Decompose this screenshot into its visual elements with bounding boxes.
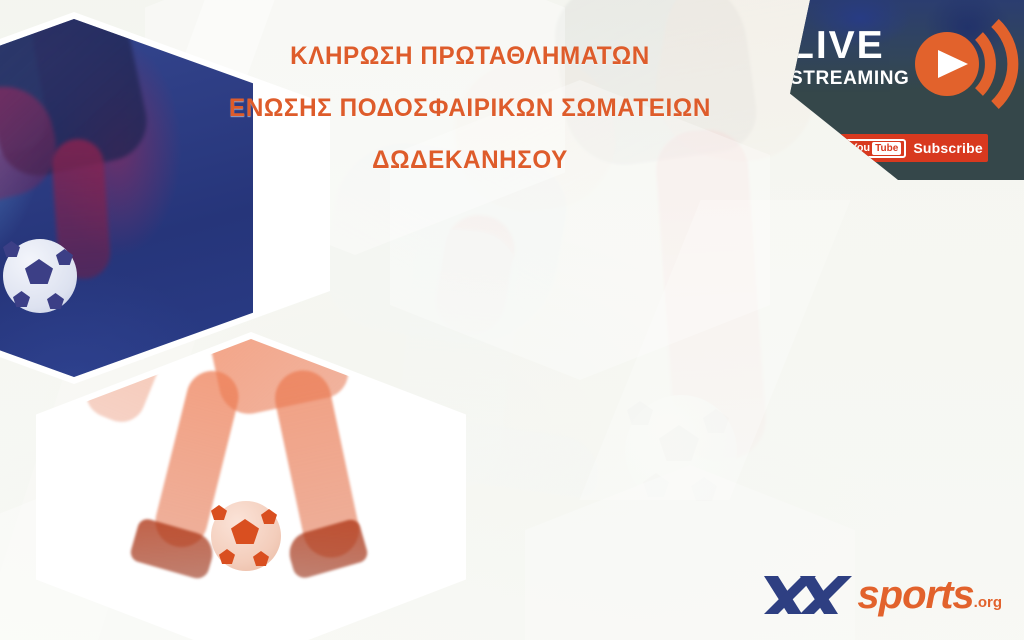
ball-panel bbox=[261, 509, 277, 524]
streaming-label: STREAMING bbox=[790, 67, 909, 91]
brand-word: sports bbox=[857, 575, 973, 615]
blue-photo-soccer-ball-icon bbox=[3, 239, 77, 313]
orange-photo-soccer-ball-icon bbox=[211, 501, 281, 571]
live-streaming-text: LIVE STREAMING bbox=[790, 28, 909, 91]
live-label: LIVE bbox=[790, 28, 909, 64]
youtube-tube-label: Tube bbox=[872, 142, 901, 155]
ball-panel bbox=[3, 241, 20, 257]
ball-panel bbox=[25, 259, 53, 284]
hexagon-photo-orange bbox=[36, 332, 466, 640]
orange-duotone-photo bbox=[93, 339, 409, 640]
orange-photo-boot-right bbox=[284, 517, 369, 580]
ball-panel bbox=[47, 293, 64, 309]
ball-panel bbox=[253, 551, 269, 566]
orange-photo-background-leg bbox=[79, 339, 187, 429]
ball-panel bbox=[219, 549, 235, 564]
hexagon-orange-image bbox=[43, 339, 459, 640]
play-broadcast-icon[interactable] bbox=[910, 16, 1020, 112]
headline-line-2: ΕΝΩΣΗΣ ΠΟΔΟΣΦΑΙΡΙΚΩΝ ΣΩΜΑΤΕΙΩΝ bbox=[189, 82, 752, 134]
poster-canvas: ΚΛΗΡΩΣΗ ΠΡΩΤΑΘΛΗΜΑΤΩΝ ΕΝΩΣΗΣ ΠΟΔΟΣΦΑΙΡΙΚ… bbox=[0, 0, 1024, 640]
subscribe-label: Subscribe bbox=[913, 140, 983, 156]
brand-logo[interactable]: sports .org bbox=[762, 572, 1002, 618]
ball-panel bbox=[211, 505, 227, 520]
ball-panel bbox=[13, 291, 30, 307]
headline-line-1: ΚΛΗΡΩΣΗ ΠΡΩΤΑΘΛΗΜΑΤΩΝ bbox=[189, 30, 752, 82]
ball-panel bbox=[231, 519, 259, 544]
xx-mark-icon bbox=[762, 572, 854, 618]
headline-line-3: ΔΩΔΕΚΑΝΗΣΟΥ bbox=[189, 134, 752, 186]
poster-headline: ΚΛΗΡΩΣΗ ΠΡΩΤΑΘΛΗΜΑΤΩΝ ΕΝΩΣΗΣ ΠΟΔΟΣΦΑΙΡΙΚ… bbox=[180, 30, 760, 186]
brand-tld: .org bbox=[974, 594, 1002, 611]
